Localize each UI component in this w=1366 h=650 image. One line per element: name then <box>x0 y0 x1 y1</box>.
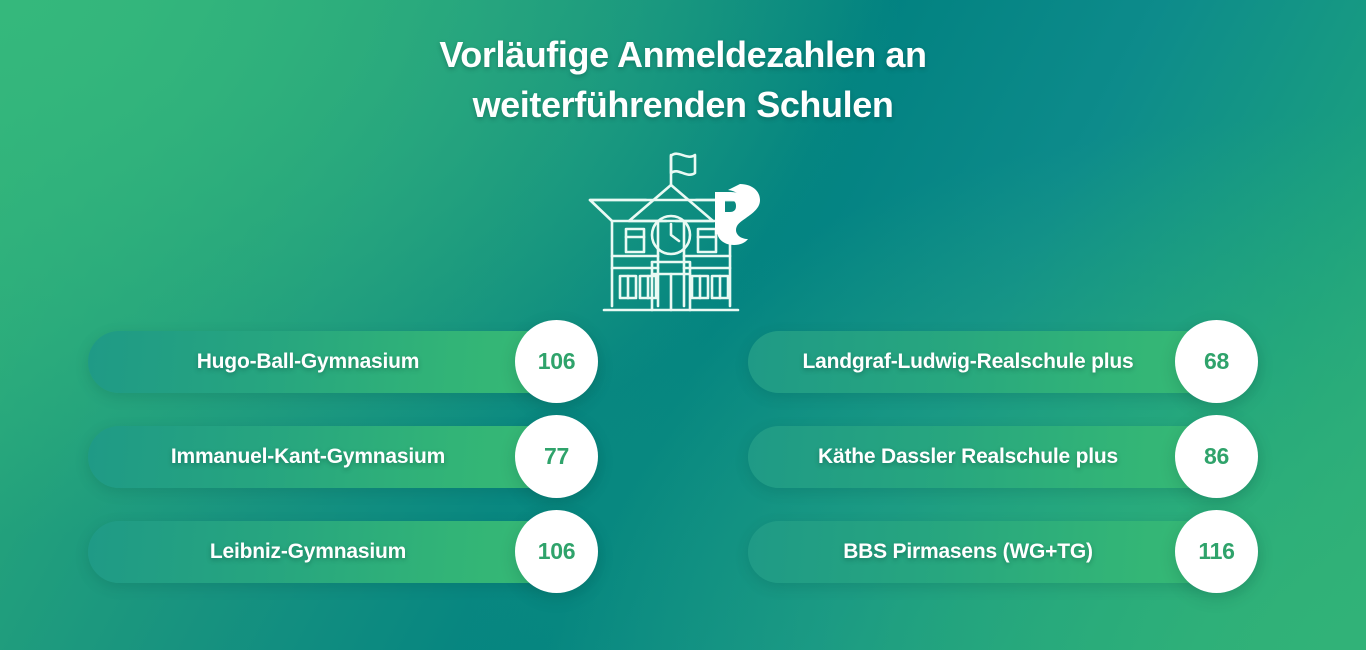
school-name: Landgraf-Ludwig-Realschule plus <box>778 331 1158 393</box>
registration-count: 68 <box>1175 320 1258 403</box>
status-badge: 106 <box>515 320 598 403</box>
registration-count: 116 <box>1175 510 1258 593</box>
list-item[interactable]: Hugo-Ball-Gymnasium 106 <box>88 320 693 403</box>
list-item[interactable]: Immanuel-Kant-Gymnasium 77 <box>88 415 693 498</box>
list-item[interactable]: Leibniz-Gymnasium 106 <box>88 510 693 593</box>
school-name: Käthe Dassler Realschule plus <box>778 426 1158 488</box>
list-item[interactable]: BBS Pirmasens (WG+TG) 116 <box>748 510 1353 593</box>
registration-count: 106 <box>515 510 598 593</box>
status-badge: 68 <box>1175 320 1258 403</box>
school-column-left: Hugo-Ball-Gymnasium 106 Immanuel-Kant-Gy… <box>88 320 693 610</box>
school-column-right: Landgraf-Ludwig-Realschule plus 68 Käthe… <box>748 320 1353 610</box>
status-badge: 116 <box>1175 510 1258 593</box>
status-badge: 77 <box>515 415 598 498</box>
title-line-2: weiterführenden Schulen <box>0 80 1366 130</box>
registration-count: 86 <box>1175 415 1258 498</box>
school-building-icon <box>568 140 798 320</box>
status-badge: 86 <box>1175 415 1258 498</box>
infographic-poster: Vorläufige Anmeldezahlen an weiterführen… <box>0 0 1366 650</box>
list-item[interactable]: Käthe Dassler Realschule plus 86 <box>748 415 1353 498</box>
registration-count: 77 <box>515 415 598 498</box>
school-name: BBS Pirmasens (WG+TG) <box>778 521 1158 583</box>
page-title: Vorläufige Anmeldezahlen an weiterführen… <box>0 30 1366 130</box>
title-line-1: Vorläufige Anmeldezahlen an <box>0 30 1366 80</box>
school-list: Hugo-Ball-Gymnasium 106 Immanuel-Kant-Gy… <box>0 320 1366 610</box>
school-name: Immanuel-Kant-Gymnasium <box>118 426 498 488</box>
school-name: Leibniz-Gymnasium <box>118 521 498 583</box>
list-item[interactable]: Landgraf-Ludwig-Realschule plus 68 <box>748 320 1353 403</box>
status-badge: 106 <box>515 510 598 593</box>
school-name: Hugo-Ball-Gymnasium <box>118 331 498 393</box>
registration-count: 106 <box>515 320 598 403</box>
